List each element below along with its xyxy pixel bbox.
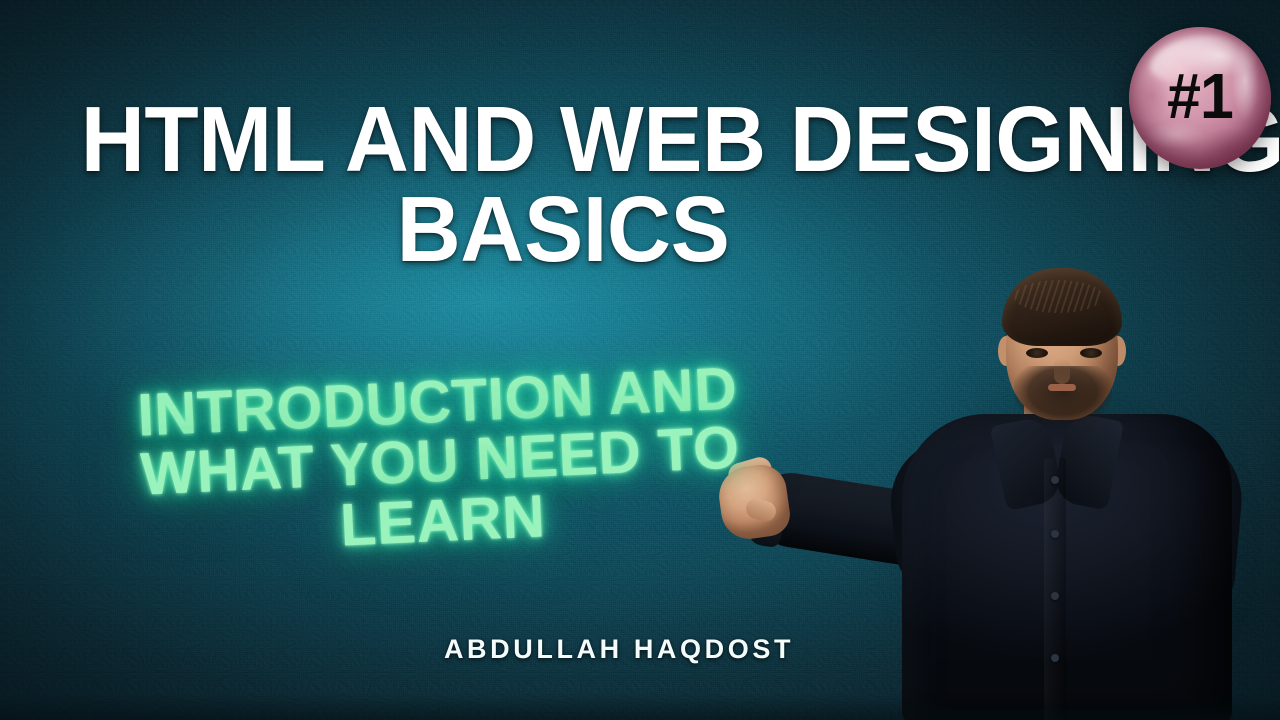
episode-number-badge: #1 (1129, 27, 1271, 169)
main-title-line-2: BASICS (81, 184, 1046, 274)
presenter-shirt-button (1051, 476, 1059, 484)
presenter-shirt-button (1051, 530, 1059, 538)
presenter-eye-right (1080, 348, 1102, 358)
presenter-shirt-button (1051, 592, 1059, 600)
subtitle-glow-text: INTRODUCTION AND WHAT YOU NEED TO LEARN (107, 357, 773, 565)
subtitle-block: INTRODUCTION AND WHAT YOU NEED TO LEARN (100, 357, 779, 565)
badge-label-text: #1 (1133, 27, 1268, 167)
presenter-nose (1054, 358, 1070, 384)
presenter-lips (1048, 384, 1076, 391)
video-thumbnail: HTML AND WEB DESIGNING BASICS INTRODUCTI… (0, 0, 1280, 720)
author-name: ABDULLAH HAQDOST (0, 634, 1280, 665)
presenter-eye-left (1026, 348, 1048, 358)
main-title: HTML AND WEB DESIGNING BASICS (81, 94, 1046, 274)
author-name-text: ABDULLAH HAQDOST (444, 634, 794, 665)
main-title-line-1: HTML AND WEB DESIGNING (81, 94, 1046, 184)
presenter-shirt-placket (1044, 458, 1066, 720)
bottom-edge-fade (0, 694, 1280, 720)
